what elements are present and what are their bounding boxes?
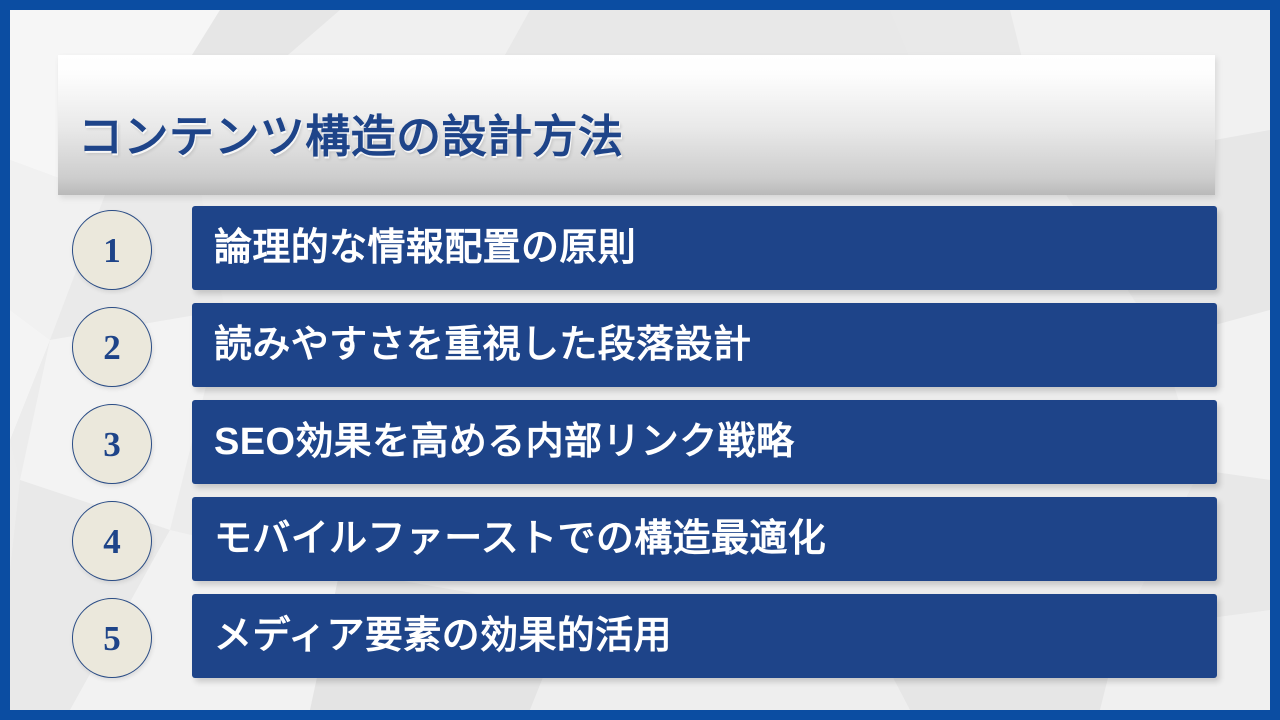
item-label: SEO効果を高める内部リンク戦略 [214,423,794,461]
item-bar[interactable]: 論理的な情報配置の原則 [192,206,1217,290]
item-bar[interactable]: メディア要素の効果的活用 [192,594,1217,678]
item-number: 4 [103,524,121,559]
numbered-list: 1 論理的な情報配置の原則 2 読みやすさを重視した段落設計 3 [10,206,1270,691]
item-number-badge: 5 [72,598,152,678]
item-number-badge: 4 [72,501,152,581]
item-label: メディア要素の効果的活用 [214,617,672,655]
item-label: 論理的な情報配置の原則 [214,229,636,267]
list-item[interactable]: 5 メディア要素の効果的活用 [10,594,1270,691]
list-item[interactable]: 4 モバイルファーストでの構造最適化 [10,497,1270,594]
list-item[interactable]: 2 読みやすさを重視した段落設計 [10,303,1270,400]
item-bar[interactable]: モバイルファーストでの構造最適化 [192,497,1217,581]
item-number-badge: 1 [72,210,152,290]
slide-frame: コンテンツ構造の設計方法 1 論理的な情報配置の原則 2 読みやすさを重視した段… [0,0,1280,720]
list-item[interactable]: 1 論理的な情報配置の原則 [10,206,1270,303]
item-number: 2 [103,330,121,365]
item-number-badge: 3 [72,404,152,484]
item-label: モバイルファーストでの構造最適化 [214,520,826,558]
slide-canvas: コンテンツ構造の設計方法 1 論理的な情報配置の原則 2 読みやすさを重視した段… [10,10,1270,710]
item-bar[interactable]: 読みやすさを重視した段落設計 [192,303,1217,387]
item-number: 1 [103,233,121,268]
list-item[interactable]: 3 SEO効果を高める内部リンク戦略 [10,400,1270,497]
item-number: 5 [103,621,121,656]
item-number-badge: 2 [72,307,152,387]
page-title: コンテンツ構造の設計方法 [78,100,623,165]
item-number: 3 [103,427,121,462]
item-label: 読みやすさを重視した段落設計 [214,326,751,364]
item-bar[interactable]: SEO効果を高める内部リンク戦略 [192,400,1217,484]
